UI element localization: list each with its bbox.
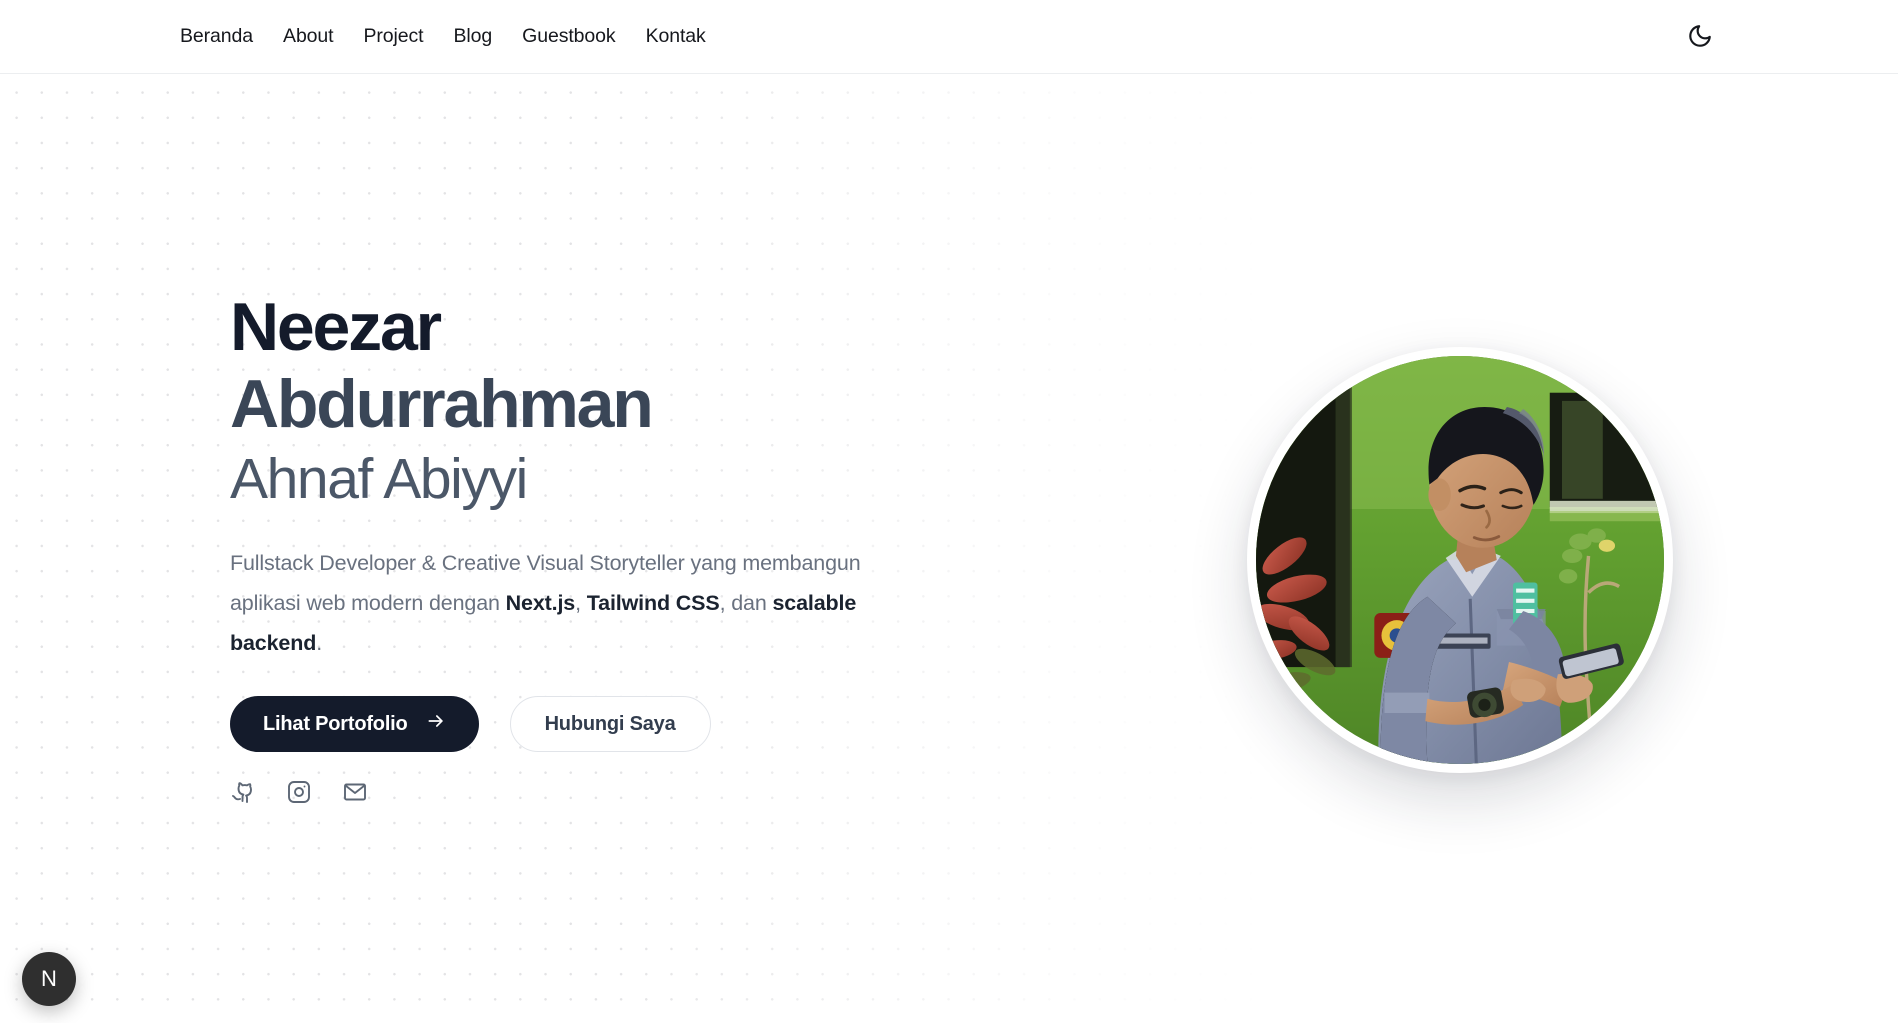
main-navigation: Beranda About Project Blog Guestbook Kon… [180,0,706,73]
cta-button-row: Lihat Portofolio Hubungi Saya [230,696,930,752]
tagline-separator-1: , [575,591,587,615]
nav-item-about[interactable]: About [283,27,333,47]
dev-badge-label: N [41,966,57,992]
headline-line-2: Abdurrahman [230,366,930,443]
moon-icon [1687,23,1713,52]
contact-me-button[interactable]: Hubungi Saya [510,696,711,752]
hero-tagline: Fullstack Developer & Creative Visual St… [230,543,890,663]
tagline-highlight-tailwind: Tailwind CSS [587,591,720,615]
nav-item-beranda[interactable]: Beranda [180,27,253,47]
dev-tools-badge[interactable]: N [22,952,76,1006]
theme-toggle-button[interactable] [1680,17,1720,57]
nav-item-blog[interactable]: Blog [454,27,493,47]
github-icon [231,780,255,809]
social-link-github[interactable] [230,781,256,807]
profile-photo-frame [1247,347,1673,773]
contact-me-label: Hubungi Saya [545,713,676,736]
tagline-text-end: . [316,631,322,655]
site-header: Beranda About Project Blog Guestbook Kon… [0,0,1898,74]
profile-photo-illustration [1256,356,1664,764]
tagline-separator-2: , dan [720,591,773,615]
avatar [1256,356,1664,764]
social-link-instagram[interactable] [286,781,312,807]
hero-copy: Neezar Abdurrahman Ahnaf Abiyyi Fullstac… [230,289,930,807]
tagline-highlight-nextjs: Next.js [506,591,575,615]
social-link-email[interactable] [342,781,368,807]
arrow-right-icon [426,711,446,737]
nav-item-project[interactable]: Project [364,27,424,47]
headline-line-1: Neezar [230,289,930,366]
social-links-row [230,781,930,807]
page-title: Neezar Abdurrahman Ahnaf Abiyyi [230,289,930,513]
nav-item-guestbook[interactable]: Guestbook [522,27,615,47]
mail-icon [343,780,367,809]
view-portfolio-label: Lihat Portofolio [263,713,408,736]
nav-item-kontak[interactable]: Kontak [646,27,706,47]
hero-section: Neezar Abdurrahman Ahnaf Abiyyi Fullstac… [0,74,1898,1023]
instagram-icon [287,780,311,809]
view-portfolio-button[interactable]: Lihat Portofolio [230,696,479,752]
headline-line-3: Ahnaf Abiyyi [230,445,930,513]
